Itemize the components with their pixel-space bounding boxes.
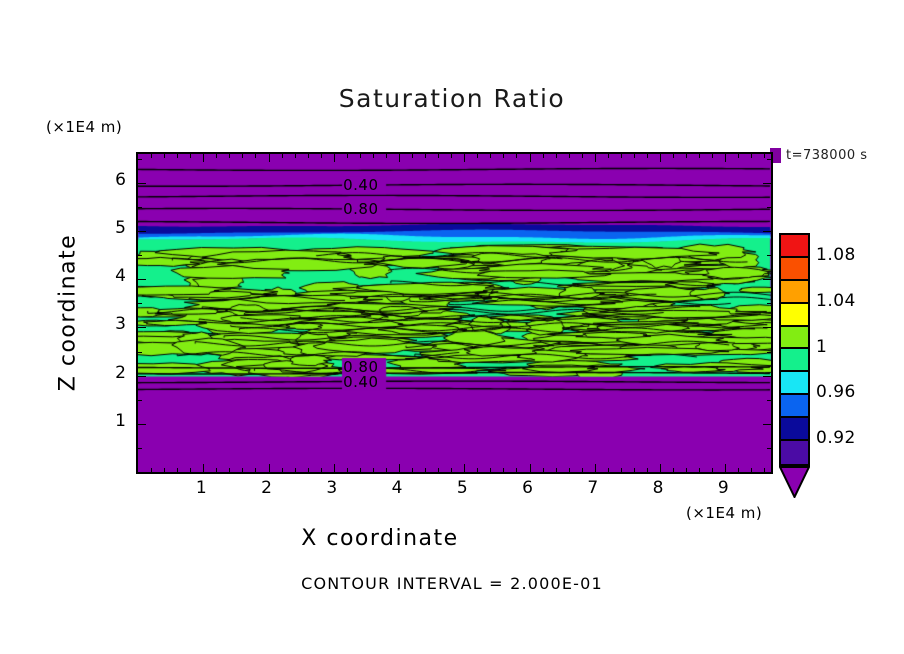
x-axis-minor-tick: [425, 468, 426, 473]
x-axis-minor-tick-top: [412, 153, 413, 158]
y-axis-major-tick-right: [763, 424, 772, 425]
x-axis-minor-tick-top: [295, 153, 296, 158]
x-axis-minor-tick: [712, 468, 713, 473]
colorbar-tick-label: 0.96: [816, 382, 856, 402]
x-axis-minor-tick: [503, 468, 504, 473]
y-tick-label: 2: [96, 363, 126, 383]
x-axis-minor-tick-top: [634, 153, 635, 158]
colorbar-lower-arrow: [779, 464, 810, 498]
x-axis-minor-tick: [242, 468, 243, 473]
y-axis-minor-tick: [137, 255, 142, 256]
x-axis-minor-tick-top: [347, 153, 348, 158]
x-axis-minor-tick: [738, 468, 739, 473]
x-axis-minor-tick: [386, 468, 387, 473]
x-axis-minor-tick-top: [503, 153, 504, 158]
x-axis-minor-tick-top: [438, 153, 439, 158]
x-axis-major-tick: [203, 464, 204, 473]
x-axis-minor-tick-top: [751, 153, 752, 158]
colorbar-band: [781, 349, 808, 372]
x-axis-minor-tick: [582, 468, 583, 473]
x-axis-minor-tick: [321, 468, 322, 473]
x-axis-minor-tick-top: [255, 153, 256, 158]
x-axis-minor-tick-top: [477, 153, 478, 158]
colorbar-band: [781, 418, 808, 441]
x-axis-major-tick: [334, 464, 335, 473]
x-axis-minor-tick-top: [556, 153, 557, 158]
colorbar-tick-label: 0.92: [816, 428, 856, 448]
x-axis-minor-tick-top: [425, 153, 426, 158]
x-axis-minor-tick: [177, 468, 178, 473]
x-axis-major-tick: [464, 464, 465, 473]
x-tick-label: 2: [247, 478, 287, 498]
y-axis-minor-tick-right: [767, 255, 772, 256]
y-axis-minor-tick-right: [767, 400, 772, 401]
x-axis-minor-tick: [451, 468, 452, 473]
x-axis-major-tick: [399, 464, 400, 473]
x-axis-minor-tick: [686, 468, 687, 473]
y-tick-label: 6: [96, 170, 126, 190]
y-axis-major-tick: [137, 376, 146, 377]
x-axis-minor-tick-top: [177, 153, 178, 158]
colorbar-tick-label: 1.08: [816, 245, 856, 265]
x-axis-minor-tick: [164, 468, 165, 473]
x-axis-minor-tick-top: [164, 153, 165, 158]
x-axis-title: X coordinate: [0, 526, 760, 551]
x-tick-label: 1: [181, 478, 221, 498]
x-axis-minor-tick: [308, 468, 309, 473]
x-axis-major-tick-top: [725, 153, 726, 162]
x-axis-minor-tick: [282, 468, 283, 473]
x-axis-minor-tick: [543, 468, 544, 473]
x-axis-minor-tick: [477, 468, 478, 473]
x-axis-minor-tick-top: [621, 153, 622, 158]
x-axis-major-tick-top: [269, 153, 270, 162]
x-tick-label: 3: [312, 478, 352, 498]
x-axis-major-tick: [269, 464, 270, 473]
y-axis-major-tick-right: [763, 376, 772, 377]
x-axis-minor-tick: [516, 468, 517, 473]
y-axis-minor-tick: [137, 448, 142, 449]
x-axis-minor-tick-top: [151, 153, 152, 158]
x-axis-minor-tick-top: [216, 153, 217, 158]
x-axis-minor-tick-top: [764, 153, 765, 158]
y-axis-minor-tick-right: [767, 448, 772, 449]
x-tick-label: 8: [638, 478, 678, 498]
contour-label: 0.40: [343, 176, 378, 194]
y-axis-major-tick: [137, 279, 146, 280]
x-axis-minor-tick: [764, 468, 765, 473]
page-title: Saturation Ratio: [0, 84, 904, 113]
x-axis-minor-tick: [151, 468, 152, 473]
x-axis-minor-tick-top: [543, 153, 544, 158]
x-axis-minor-tick: [360, 468, 361, 473]
y-axis-major-tick: [137, 183, 146, 184]
y-tick-label: 4: [96, 266, 126, 286]
y-axis-major-tick: [137, 327, 146, 328]
x-axis-minor-tick-top: [321, 153, 322, 158]
x-axis-minor-tick-top: [712, 153, 713, 158]
x-axis-minor-tick-top: [608, 153, 609, 158]
x-axis-minor-tick-top: [673, 153, 674, 158]
x-axis-major-tick-top: [203, 153, 204, 162]
colorbar-band: [781, 258, 808, 281]
x-axis-minor-tick-top: [490, 153, 491, 158]
x-axis-minor-tick-top: [582, 153, 583, 158]
z-axis-unit-label: (×1E4 m): [46, 118, 122, 136]
x-axis-minor-tick: [438, 468, 439, 473]
x-axis-minor-tick-top: [229, 153, 230, 158]
y-axis-minor-tick-right: [767, 159, 772, 160]
x-axis-minor-tick-top: [516, 153, 517, 158]
y-axis-major-tick: [137, 424, 146, 425]
y-axis-minor-tick: [137, 352, 142, 353]
colorbar-band: [781, 281, 808, 304]
y-axis-minor-tick-right: [767, 352, 772, 353]
colorbar-band: [781, 235, 808, 258]
x-axis-major-tick-top: [334, 153, 335, 162]
x-axis-major-tick: [725, 464, 726, 473]
x-axis-minor-tick-top: [360, 153, 361, 158]
y-tick-label: 1: [96, 411, 126, 431]
x-axis-minor-tick: [608, 468, 609, 473]
y-axis-minor-tick-right: [767, 207, 772, 208]
x-axis-minor-tick-top: [699, 153, 700, 158]
x-axis-major-tick-top: [595, 153, 596, 162]
colorbar-band: [781, 395, 808, 418]
time-stamp: t=738000 s: [786, 148, 868, 163]
x-axis-minor-tick-top: [242, 153, 243, 158]
x-axis-major-tick-top: [399, 153, 400, 162]
x-axis-minor-tick: [295, 468, 296, 473]
contour-label: 0.40: [343, 373, 378, 391]
x-axis-major-tick: [530, 464, 531, 473]
y-axis-minor-tick: [137, 303, 142, 304]
contour-interval-note: CONTOUR INTERVAL = 2.000E-01: [0, 574, 904, 593]
x-axis-major-tick-top: [530, 153, 531, 162]
x-axis-minor-tick-top: [308, 153, 309, 158]
colorbar-band: [781, 327, 808, 350]
x-axis-minor-tick-top: [190, 153, 191, 158]
y-axis-major-tick: [137, 231, 146, 232]
contour-plot-area[interactable]: 0.400.800.800.40: [136, 152, 773, 474]
y-axis-major-tick-right: [763, 327, 772, 328]
colorbar-band: [781, 372, 808, 395]
x-axis-minor-tick: [347, 468, 348, 473]
x-axis-minor-tick: [216, 468, 217, 473]
contour-label: 0.80: [343, 200, 378, 218]
contour-field: [138, 154, 771, 472]
y-axis-minor-tick: [137, 400, 142, 401]
y-axis-minor-tick: [137, 207, 142, 208]
x-axis-major-tick-top: [464, 153, 465, 162]
x-axis-minor-tick: [255, 468, 256, 473]
x-axis-minor-tick: [634, 468, 635, 473]
x-tick-label: 7: [573, 478, 613, 498]
x-axis-minor-tick-top: [386, 153, 387, 158]
x-axis-minor-tick: [751, 468, 752, 473]
x-axis-minor-tick: [621, 468, 622, 473]
x-axis-minor-tick-top: [451, 153, 452, 158]
x-axis-minor-tick-top: [282, 153, 283, 158]
x-axis-minor-tick: [490, 468, 491, 473]
y-axis-minor-tick: [137, 159, 142, 160]
x-axis-major-tick: [595, 464, 596, 473]
colorbar-band: [781, 304, 808, 327]
y-axis-title: Z coordinate: [56, 233, 81, 393]
x-axis-minor-tick: [699, 468, 700, 473]
x-axis-major-tick-top: [660, 153, 661, 162]
x-tick-label: 6: [508, 478, 548, 498]
x-axis-minor-tick: [229, 468, 230, 473]
colorbar-tick-label: 1.04: [816, 291, 856, 311]
x-tick-label: 5: [442, 478, 482, 498]
x-axis-minor-tick: [412, 468, 413, 473]
x-axis-minor-tick-top: [569, 153, 570, 158]
x-axis-minor-tick: [373, 468, 374, 473]
x-axis-minor-tick-top: [738, 153, 739, 158]
x-axis-minor-tick-top: [686, 153, 687, 158]
x-axis-minor-tick: [673, 468, 674, 473]
y-axis-minor-tick-right: [767, 303, 772, 304]
x-axis-minor-tick-top: [373, 153, 374, 158]
x-axis-minor-tick-top: [647, 153, 648, 158]
x-axis-minor-tick: [556, 468, 557, 473]
x-tick-label: 4: [377, 478, 417, 498]
colorbar-band: [781, 441, 808, 464]
y-tick-label: 3: [96, 314, 126, 334]
y-axis-major-tick-right: [763, 231, 772, 232]
colorbar-tick-label: 1: [816, 337, 827, 357]
x-axis-major-tick: [660, 464, 661, 473]
y-tick-label: 5: [96, 218, 126, 238]
y-axis-major-tick-right: [763, 183, 772, 184]
y-axis-major-tick-right: [763, 279, 772, 280]
x-axis-minor-tick: [647, 468, 648, 473]
x-tick-label: 9: [703, 478, 743, 498]
x-axis-unit-label: (×1E4 m): [686, 504, 762, 522]
x-axis-minor-tick: [569, 468, 570, 473]
x-axis-minor-tick: [190, 468, 191, 473]
colorbar[interactable]: [779, 233, 810, 466]
